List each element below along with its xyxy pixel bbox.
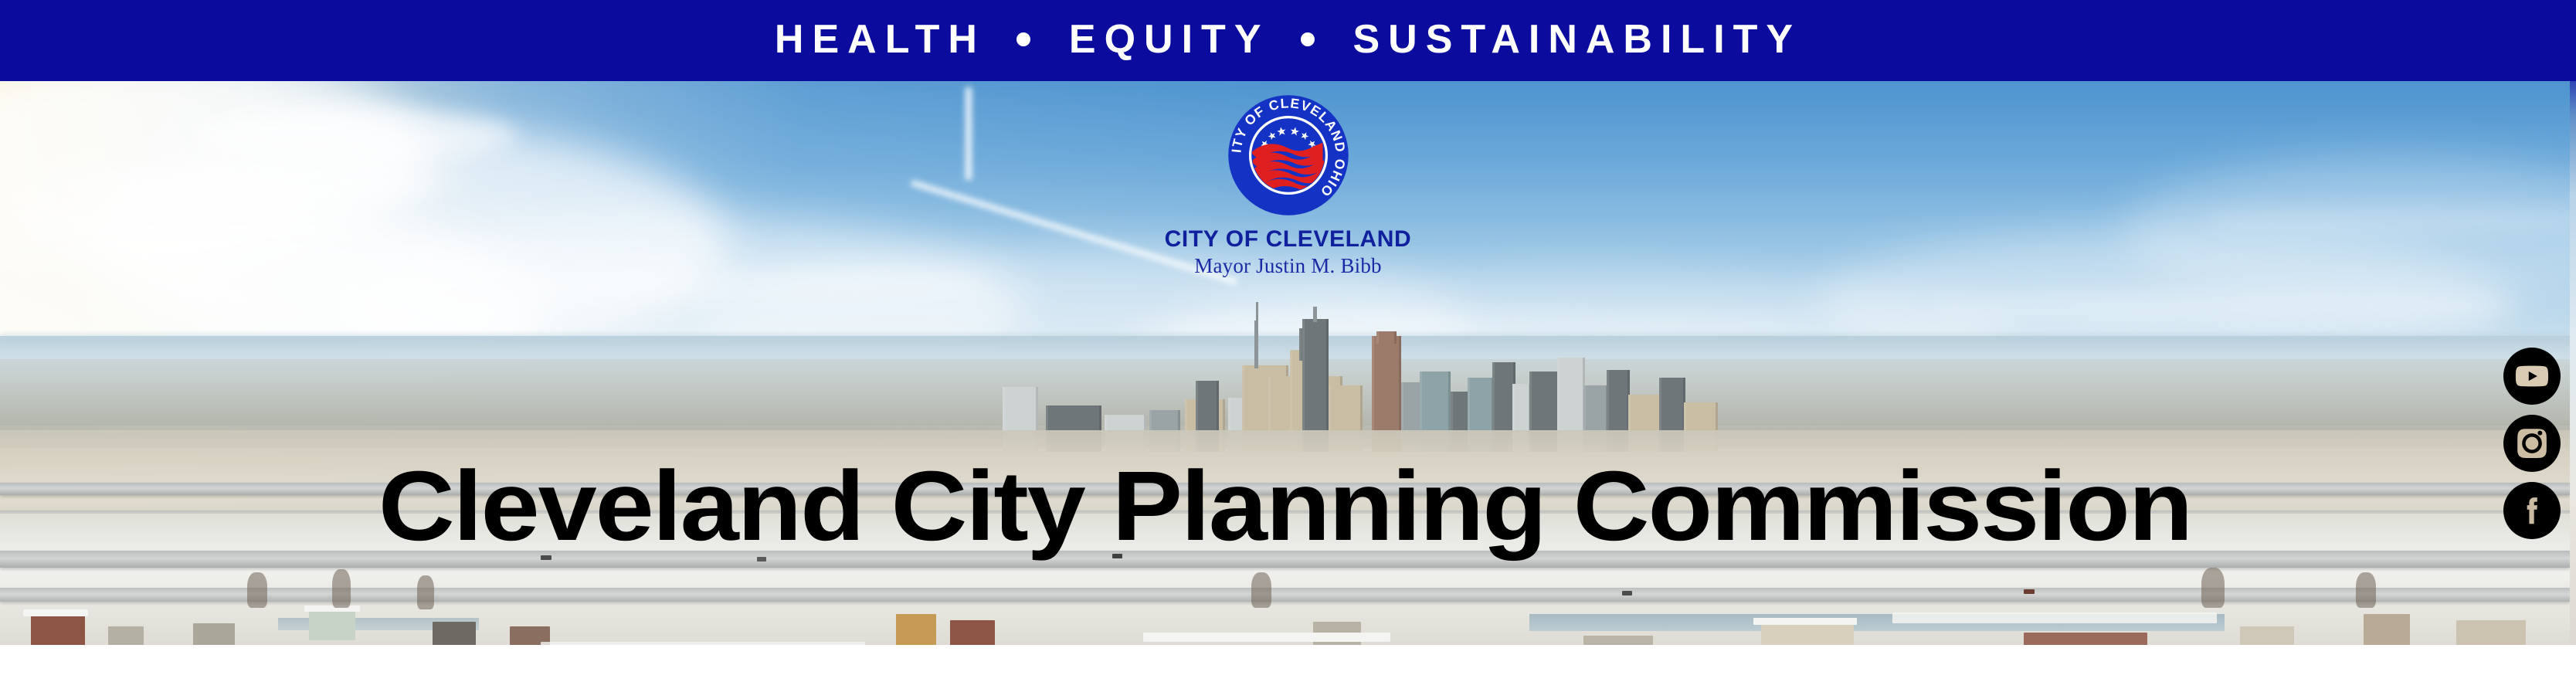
tagline-word-sustainability: SUSTAINABILITY: [1353, 19, 1802, 59]
building: [950, 620, 995, 645]
bare-tree: [2201, 568, 2225, 608]
social-links: [2499, 348, 2565, 539]
bare-tree: [1251, 572, 1271, 608]
snow-patch: [1892, 612, 2217, 623]
facebook-link[interactable]: [2503, 482, 2561, 539]
building: [1583, 636, 1653, 645]
city-of-cleveland-seal-icon: CITY OF CLEVELAND OHIO: [1226, 93, 1351, 218]
youtube-icon: [2514, 358, 2550, 394]
building: [309, 609, 355, 640]
cloud-wisp: [193, 108, 518, 162]
bare-tree: [2356, 572, 2376, 608]
building: [896, 614, 936, 645]
highway-band: [0, 588, 2570, 602]
tagline-banner: HEALTH EQUITY SUSTAINABILITY: [0, 0, 2576, 81]
page-root: HEALTH EQUITY SUSTAINABILITY: [0, 0, 2576, 682]
city-brand-block: CITY OF CLEVELAND OHIO: [1049, 93, 1528, 277]
snow-patch: [1753, 618, 1857, 625]
building: [1761, 622, 1854, 645]
building: [31, 614, 85, 645]
instagram-icon: [2514, 426, 2550, 461]
building: [2024, 633, 2147, 645]
snow-patch: [23, 609, 88, 616]
building: [2364, 614, 2410, 645]
youtube-link[interactable]: [2503, 348, 2561, 405]
contrail: [966, 87, 972, 180]
page-title: Cleveland City Planning Commission: [0, 457, 2576, 556]
brand-city-name: CITY OF CLEVELAND: [1049, 227, 1528, 252]
tagline-word-health: HEALTH: [775, 19, 986, 59]
bottom-white-margin: [0, 645, 2576, 682]
bullet-dot-icon: [1016, 32, 1030, 46]
bullet-dot-icon: [1301, 32, 1315, 46]
facebook-icon: [2514, 493, 2550, 528]
building: [433, 622, 476, 645]
building: [2456, 620, 2526, 645]
building: [2240, 626, 2294, 645]
building: [108, 626, 144, 645]
tagline-word-equity: EQUITY: [1069, 19, 1270, 59]
cloud-wisp: [1931, 290, 2518, 322]
vehicle: [2024, 589, 2035, 594]
vehicle: [1622, 591, 1632, 595]
bare-tree: [247, 572, 267, 608]
instagram-link[interactable]: [2503, 415, 2561, 472]
snow-patch: [304, 606, 360, 612]
snow-patch: [1143, 633, 1390, 642]
tagline-banner-inner: HEALTH EQUITY SUSTAINABILITY: [775, 19, 1801, 59]
brand-mayor-line: Mayor Justin M. Bibb: [1049, 255, 1528, 278]
cloud-wisp: [46, 162, 448, 205]
photo-right-edge: [2570, 81, 2576, 645]
cloud-wisp: [494, 266, 989, 301]
bare-tree: [332, 569, 351, 608]
building: [193, 623, 235, 645]
bare-tree: [417, 575, 434, 609]
